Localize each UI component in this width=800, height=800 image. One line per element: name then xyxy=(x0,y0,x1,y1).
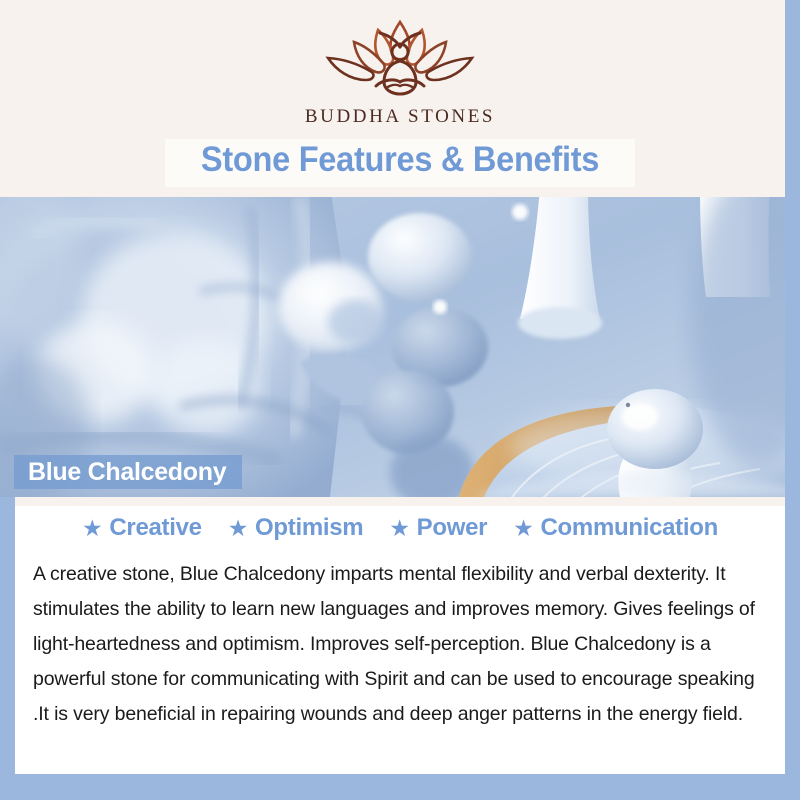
frame-border-left xyxy=(0,497,15,800)
description-text: A creative stone, Blue Chalcedony impart… xyxy=(33,557,775,732)
keyword-label: Communication xyxy=(541,514,718,542)
content-top-divider xyxy=(15,497,785,506)
star-icon: ★ xyxy=(389,517,409,540)
star-icon: ★ xyxy=(82,517,102,540)
stone-name-label: Blue Chalcedony xyxy=(14,455,242,489)
keyword-label: Power xyxy=(417,514,488,542)
brand-name: BUDDHA STONES xyxy=(0,106,800,128)
keyword-item-power: ★ Power xyxy=(389,514,487,542)
frame-border-bottom xyxy=(0,774,800,800)
page-title: Stone Features & Benefits xyxy=(28,140,772,180)
content-panel: ★ Creative ★ Optimism ★ Power ★ Communic… xyxy=(15,497,785,775)
lotus-meditation-icon xyxy=(314,16,486,100)
keyword-label: Creative xyxy=(109,514,201,542)
keyword-item-communication: ★ Communication xyxy=(513,514,718,542)
star-icon: ★ xyxy=(228,517,248,540)
frame-border-right xyxy=(785,0,800,800)
keyword-item-optimism: ★ Optimism xyxy=(228,514,364,542)
keyword-label: Optimism xyxy=(255,514,363,542)
keyword-list: ★ Creative ★ Optimism ★ Power ★ Communic… xyxy=(15,514,785,542)
stone-photo xyxy=(0,197,800,497)
infographic-page: BUDDHA STONES Stone Features & Benefits xyxy=(0,0,800,800)
star-icon: ★ xyxy=(513,517,533,540)
brand-logo: BUDDHA STONES xyxy=(0,16,800,128)
keyword-item-creative: ★ Creative xyxy=(82,514,202,542)
stone-photo-illustration xyxy=(0,197,800,497)
